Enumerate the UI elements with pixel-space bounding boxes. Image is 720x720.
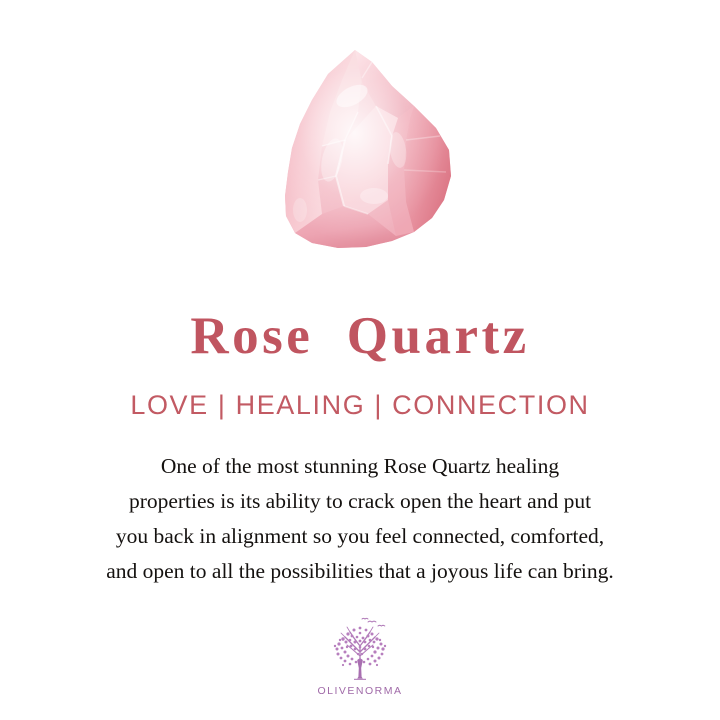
description-paragraph: One of the most stunning Rose Quartz hea… xyxy=(10,449,710,589)
rose-quartz-crystal-photo xyxy=(0,0,720,258)
tree-icon xyxy=(321,616,399,682)
description-line: you back in alignment so you feel connec… xyxy=(10,519,710,554)
rose-quartz-info-card: Rose Quartz LOVE | HEALING | CONNECTION … xyxy=(0,0,720,720)
brand-logo: OLIVENORMA xyxy=(317,616,402,697)
description-line: One of the most stunning Rose Quartz hea… xyxy=(10,449,710,484)
page-title: Rose Quartz xyxy=(190,310,529,363)
brand-wordmark: OLIVENORMA xyxy=(317,685,402,697)
keyword-subtitle: LOVE | HEALING | CONNECTION xyxy=(130,392,589,419)
description-line: properties is its ability to crack open … xyxy=(10,484,710,519)
crystal-image-container xyxy=(0,0,720,258)
description-line: and open to all the possibilities that a… xyxy=(10,554,710,589)
